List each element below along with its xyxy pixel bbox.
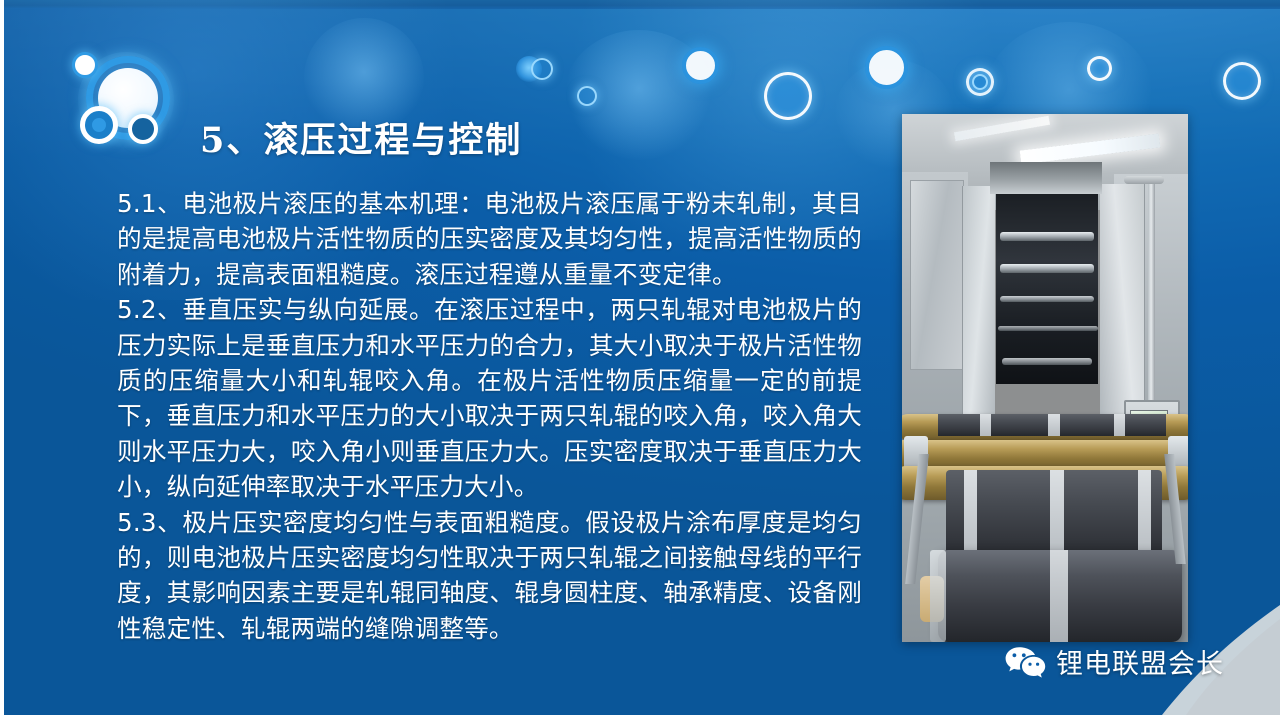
wechat-footer: 锂电联盟会长: [1004, 642, 1224, 681]
photo-internal-roller: [1000, 232, 1094, 241]
slide-logo: [66, 40, 186, 160]
photo-sheet-band: [1138, 470, 1151, 562]
photo-machine-panel: [910, 180, 964, 370]
photo-support-arm: [1148, 184, 1155, 400]
photo-roll-end-cap: [930, 550, 946, 642]
photo-roll-band: [1050, 550, 1068, 642]
machine-photo: [902, 114, 1188, 642]
photo-machine-cavity: [996, 194, 1098, 384]
logo-dark-circle-icon: [128, 114, 158, 144]
photo-support-arm: [1124, 176, 1164, 184]
logo-small-circle-icon: [72, 52, 98, 78]
presentation-slide: 5、滚压过程与控制 5.1、电池极片滚压的基本机理：电池极片滚压属于粉末轧制，其…: [0, 0, 1280, 720]
wechat-icon: [1004, 645, 1046, 679]
photo-sheet-band: [1050, 470, 1064, 562]
photo-sheet-band: [1048, 414, 1060, 436]
paragraph-5-2: 5.2、垂直压实与纵向延展。在滚压过程中，两只轧辊对电池极片的压力实际上是垂直压…: [117, 292, 862, 504]
photo-sheet-band: [980, 414, 991, 436]
slide-body: 5.1、电池极片滚压的基本机理：电池极片滚压属于粉末轧制，其目的是提高电池极片活…: [117, 186, 862, 646]
photo-internal-roller: [1000, 296, 1094, 302]
photo-machine-hood: [990, 162, 1102, 194]
photo-internal-roller: [1002, 358, 1092, 365]
slide-title: 5、滚压过程与控制: [200, 112, 522, 163]
photo-internal-roller: [998, 326, 1098, 331]
photo-sheet-band: [1114, 414, 1125, 436]
logo-ring-circle-icon: [80, 106, 118, 144]
paragraph-5-3: 5.3、极片压实密度均匀性与表面粗糙度。假设极片涂布厚度是均匀的，则电池极片压实…: [117, 505, 862, 647]
photo-sheet-band: [964, 470, 977, 562]
photo-internal-roller: [1000, 264, 1094, 273]
slide-top-band: [4, 0, 1280, 9]
paragraph-5-1: 5.1、电池极片滚压的基本机理：电池极片滚压属于粉末轧制，其目的是提高电池极片活…: [117, 186, 862, 292]
wechat-account-name: 锂电联盟会长: [1056, 642, 1224, 681]
photo-machine-panel: [962, 186, 995, 446]
